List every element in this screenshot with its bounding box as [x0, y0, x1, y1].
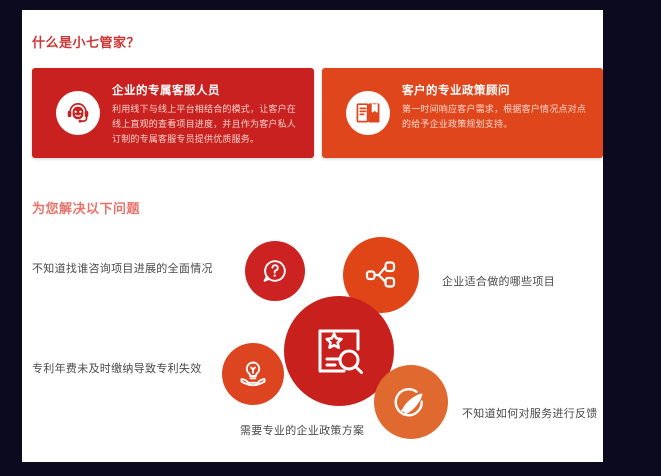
problem-label-patent: 专利年费未及时缴纳导致专利失效 — [32, 360, 207, 379]
card-service-body: 企业的专属客服人员 利用线下与线上平台相结合的模式，让客户在线上直观的查看项目进… — [112, 82, 302, 147]
headset-agent-icon — [56, 91, 100, 135]
card-service-title: 企业的专属客服人员 — [112, 82, 302, 98]
document-star-search-icon — [310, 322, 368, 380]
open-book-bookmark-icon — [346, 91, 390, 135]
problem-label-consult: 不知道找谁咨询项目进展的全面情况 — [32, 260, 217, 279]
share-nodes-icon — [363, 257, 399, 293]
lightbulb-hands-icon — [237, 358, 269, 390]
card-advisor[interactable]: 客户的专业政策顾问 第一时间响应客户需求，根据客户情况点对点的给予企业政策规划支… — [322, 68, 603, 158]
card-service-text: 利用线下与线上平台相结合的模式，让客户在线上直观的查看项目进度，并且作为客户私人… — [112, 102, 302, 147]
section-heading-what-is: 什么是小七管家？ — [32, 32, 140, 51]
pen-circle-icon — [392, 383, 430, 421]
card-service[interactable]: 企业的专属客服人员 利用线下与线上平台相结合的模式，让客户在线上直观的查看项目进… — [32, 68, 314, 158]
card-advisor-text: 第一时间响应客户需求，根据客户情况点对点的给予企业政策规划支持。 — [402, 102, 591, 132]
problem-label-policy: 需要专业的企业政策方案 — [240, 422, 420, 441]
page-content: 什么是小七管家？ 企业的专属客服人员 利用线下与线上平台相结合的模式， — [22, 10, 603, 462]
section-heading-solve: 为您解决以下问题 — [32, 198, 140, 217]
problem-label-feedback: 不知道如何对服务进行反馈 — [462, 405, 603, 424]
bubble-question[interactable] — [245, 241, 305, 301]
question-bubble-icon — [260, 256, 290, 286]
card-advisor-title: 客户的专业政策顾问 — [402, 82, 591, 98]
bubble-idea[interactable] — [222, 343, 284, 405]
problem-label-suitable: 企业适合做的哪些项目 — [442, 273, 603, 292]
card-advisor-body: 客户的专业政策顾问 第一时间响应客户需求，根据客户情况点对点的给予企业政策规划支… — [402, 82, 591, 132]
